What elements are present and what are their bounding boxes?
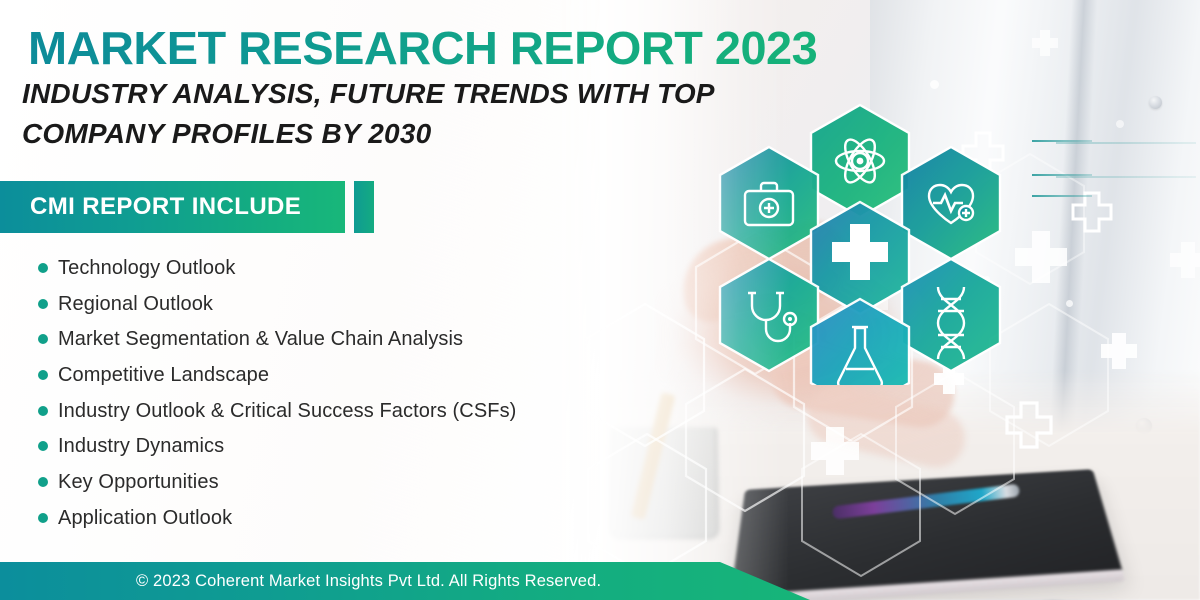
list-item: Key Opportunities [38,464,658,500]
sparkle-2 [1066,300,1073,307]
floating-cross-icon-4 [1098,330,1140,377]
floating-cross-icon-2 [1012,228,1070,291]
bullet-dot-icon [38,406,48,416]
page-subtitle: INDUSTRY ANALYSIS, FUTURE TRENDS WITH TO… [22,74,782,154]
banner-bar: CMI REPORT INCLUDE [0,181,345,233]
page-title: MARKET RESEARCH REPORT 2023 [28,21,817,75]
list-item-label: Industry Dynamics [58,436,224,456]
decor-rule-5 [1056,176,1196,178]
list-item: Application Outlook [38,500,658,536]
floating-cross-icon-8 [1168,240,1200,285]
list-item-label: Regional Outlook [58,294,213,314]
bullet-dot-icon [38,334,48,344]
list-item: Industry Dynamics [38,428,658,464]
hexagon-heart-pulse [902,147,1000,259]
banner-accent-tab [354,181,374,233]
report-include-list: Technology Outlook Regional Outlook Mark… [38,250,658,536]
list-item-label: Technology Outlook [58,258,235,278]
list-item: Competitive Landscape [38,357,658,393]
sparkle-1 [930,80,939,89]
poster-canvas: MARKET RESEARCH REPORT 2023 INDUSTRY ANA… [0,0,1200,600]
poster-content: MARKET RESEARCH REPORT 2023 INDUSTRY ANA… [0,0,840,600]
hexagon-dna [902,259,1000,371]
list-item-label: Market Segmentation & Value Chain Analys… [58,329,463,349]
list-item-label: Key Opportunities [58,472,219,492]
list-item: Technology Outlook [38,250,658,286]
list-item: Industry Outlook & Critical Success Fact… [38,393,658,429]
list-item-label: Competitive Landscape [58,365,269,385]
footer-bar: © 2023 Coherent Market Insights Pvt Ltd.… [0,562,1200,600]
list-item: Regional Outlook [38,286,658,322]
footer-copyright: © 2023 Coherent Market Insights Pvt Ltd.… [136,562,601,600]
bullet-dot-icon [38,263,48,273]
floating-cross-icon-9 [1030,28,1060,63]
decor-rule-3 [1032,195,1092,197]
bullet-dot-icon [38,370,48,380]
list-item-label: Application Outlook [58,508,232,528]
bullet-dot-icon [38,513,48,523]
floating-cross-icon-3 [1070,190,1114,239]
bullet-dot-icon [38,441,48,451]
bullet-dot-icon [38,477,48,487]
lab-coat-button-upper [1149,96,1162,109]
sparkle-4 [1116,120,1124,128]
list-item: Market Segmentation & Value Chain Analys… [38,321,658,357]
decor-rule-4 [1056,142,1196,144]
floating-cross-icon-5 [1004,400,1054,455]
banner-label: CMI REPORT INCLUDE [0,193,301,221]
bullet-dot-icon [38,299,48,309]
list-item-label: Industry Outlook & Critical Success Fact… [58,401,516,421]
